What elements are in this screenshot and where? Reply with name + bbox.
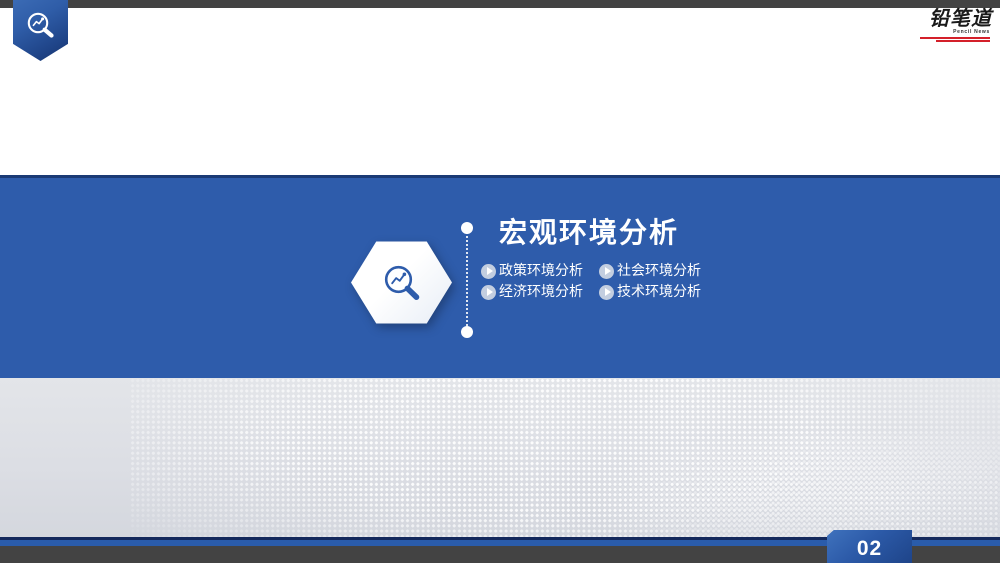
- play-circle-icon: [599, 264, 614, 279]
- magnifier-chart-glyph: [381, 262, 423, 304]
- list-item-label: 社会环境分析: [617, 263, 701, 279]
- list-item[interactable]: 技术环境分析: [599, 284, 709, 300]
- top-dark-bar: [0, 0, 1000, 8]
- brand-logo: 铅笔道 Pencil News: [904, 8, 992, 44]
- play-circle-icon: [481, 264, 496, 279]
- chart-magnifier-icon: [25, 10, 57, 42]
- presentation-slide: 铅笔道 Pencil News 宏观环境分析: [0, 0, 1000, 563]
- hexagon-chart-magnifier-icon: [351, 238, 452, 327]
- list-item[interactable]: 经济环境分析: [481, 284, 591, 300]
- dotted-vertical-connector: [461, 222, 473, 338]
- section-item-list: 政策环境分析 社会环境分析 经济环境分析 技术环境分析: [481, 263, 711, 300]
- footer-decor-band: [0, 378, 1000, 537]
- brand-logo-en: Pencil News: [902, 29, 990, 36]
- list-item-label: 经济环境分析: [499, 284, 583, 300]
- list-item-label: 政策环境分析: [499, 263, 583, 279]
- brand-logo-cn: 铅笔道: [904, 8, 992, 29]
- page-number: 02: [857, 537, 882, 561]
- brand-logo-underline: [904, 37, 992, 41]
- dotted-world-map-secondary: [480, 433, 1000, 537]
- connector-line: [466, 228, 468, 332]
- section-title: 宏观环境分析: [499, 211, 679, 251]
- list-item[interactable]: 社会环境分析: [599, 263, 709, 279]
- list-item[interactable]: 政策环境分析: [481, 263, 591, 279]
- connector-dot-bottom: [461, 326, 473, 338]
- page-number-badge: 02: [827, 530, 912, 563]
- dotted-world-map: [130, 378, 1000, 537]
- play-circle-icon: [599, 285, 614, 300]
- play-circle-icon: [481, 285, 496, 300]
- list-item-label: 技术环境分析: [617, 284, 701, 300]
